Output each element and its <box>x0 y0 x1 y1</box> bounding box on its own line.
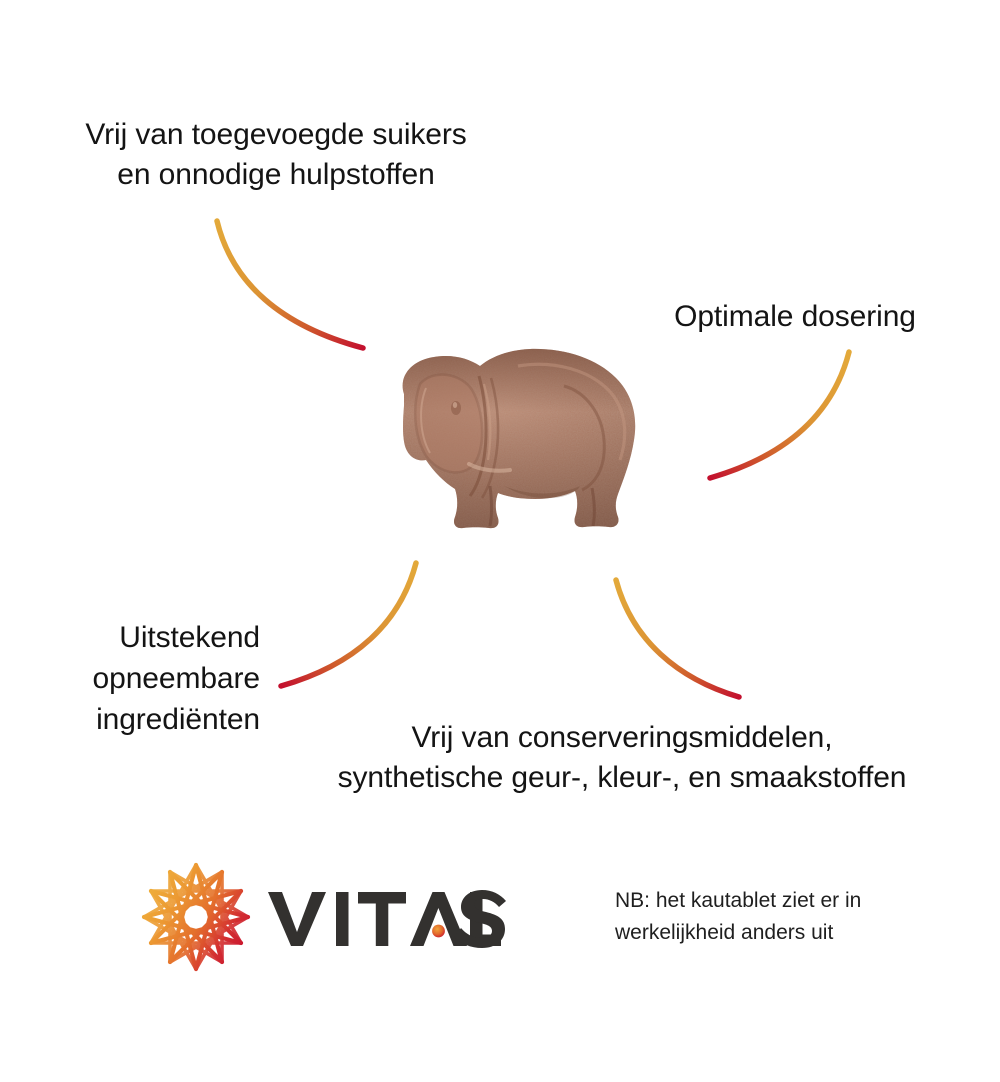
starburst-chords-4 <box>144 865 248 969</box>
elephant-front-leg-line <box>490 486 492 526</box>
disclaimer-note: NB: het kautablet ziet er in werkelijkhe… <box>615 885 945 949</box>
callout-optimal-dosage: Optimale dosering <box>620 297 970 337</box>
curve-bottom-left <box>281 563 416 686</box>
starburst-chords-5 <box>144 865 248 969</box>
curve-bottom-right <box>616 580 739 697</box>
vitals-brand-lockup <box>140 858 515 976</box>
callout-free-from-sugars: Vrij van toegevoegde suikers en onnodige… <box>36 115 516 195</box>
callout-free-from-preservatives: Vrij van conserveringsmiddelen, syntheti… <box>272 718 972 798</box>
infographic-canvas: Vrij van toegevoegde suikers en onnodige… <box>0 0 1000 1082</box>
vitals-a-dot <box>432 925 445 938</box>
callout-absorbable-ingredients: Uitstekend opneembare ingrediënten <box>20 618 260 740</box>
curve-top-right <box>710 352 849 478</box>
vitals-starburst-logo <box>140 861 252 973</box>
chewable-tablet-elephant <box>368 336 658 548</box>
vitals-wordmark <box>266 884 506 950</box>
curve-top-left <box>217 221 363 348</box>
